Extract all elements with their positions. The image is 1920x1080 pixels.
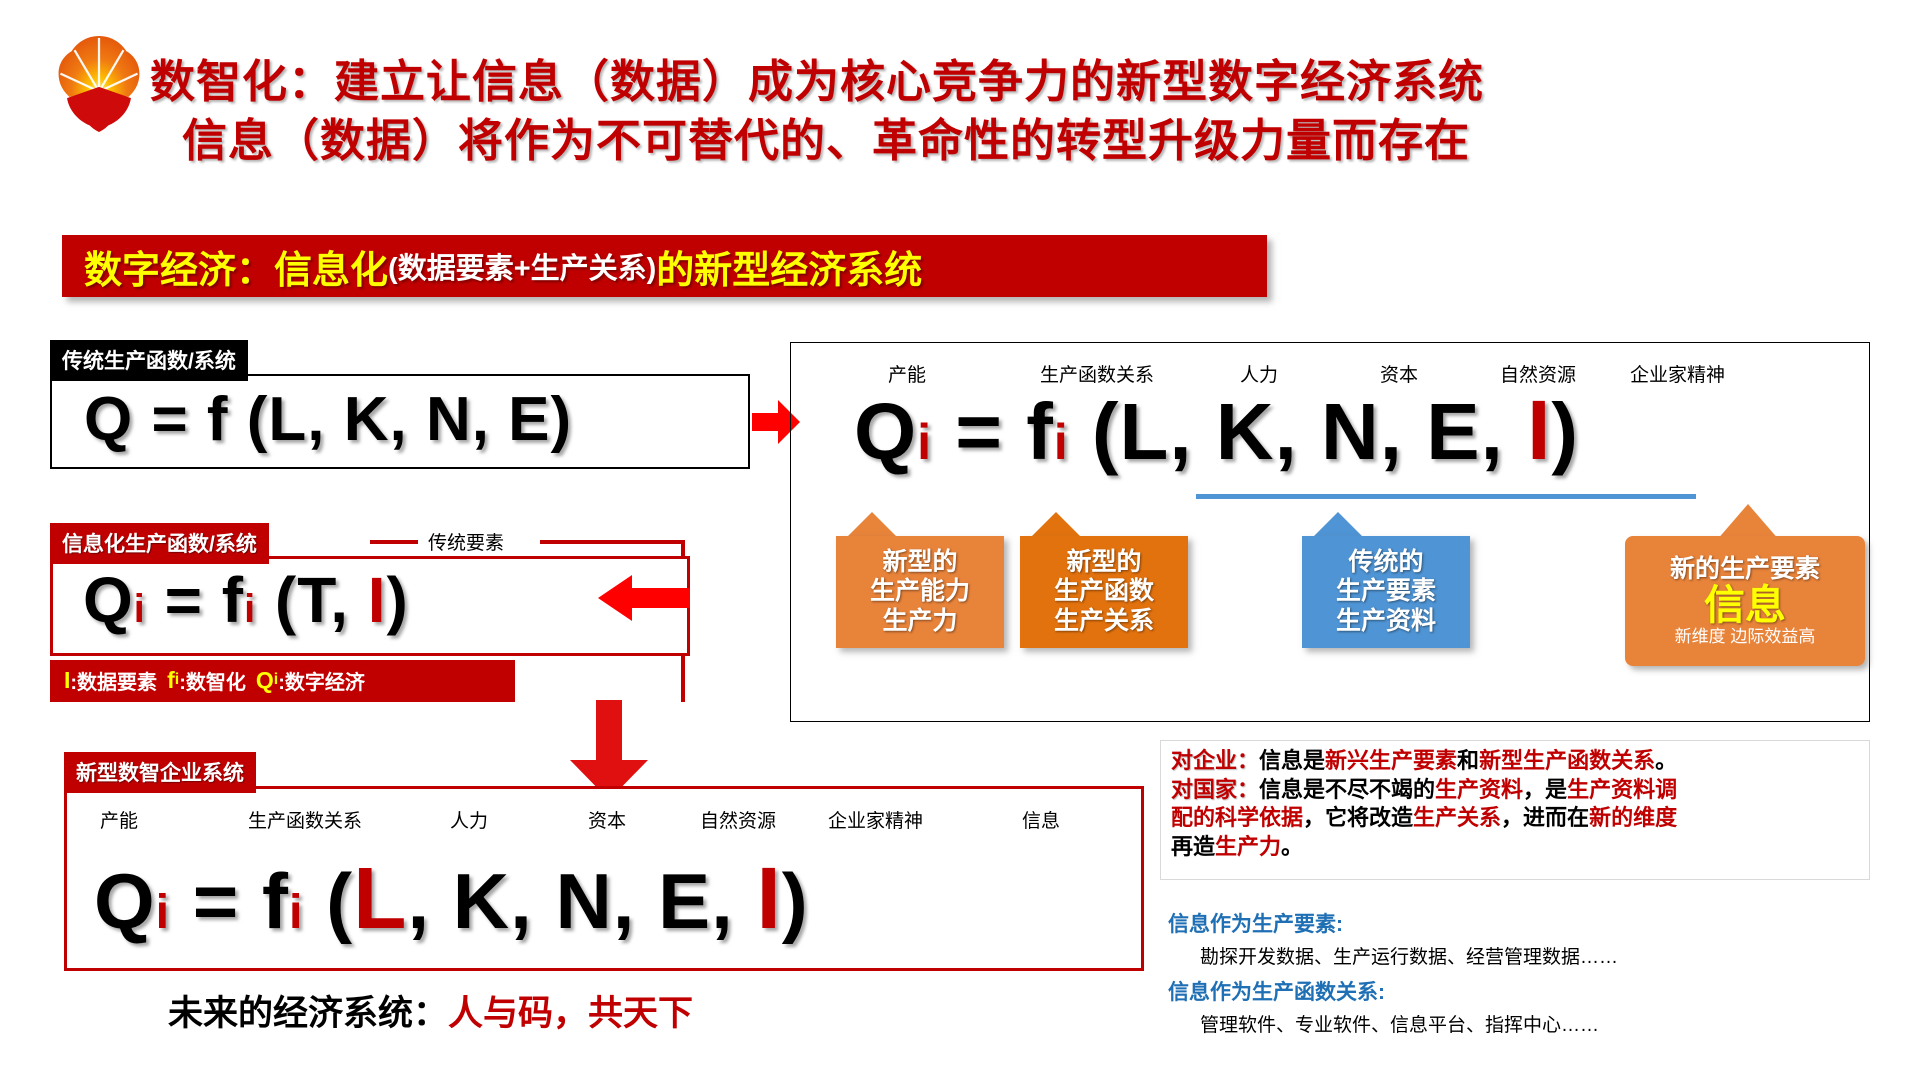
formula-close-paren: ): [387, 564, 409, 636]
paragraph-line-2: 对国家：信息是不尽不竭的生产资料，是生产资料调: [1171, 776, 1859, 805]
legend-i-text: :数据要素: [70, 666, 157, 695]
main-panel-formula: Qi = fi (L, K, N, E, I): [854, 382, 1579, 479]
para-l4-a: 再造: [1171, 834, 1215, 859]
traditional-factors-underline: [1196, 494, 1696, 499]
future-economy-footer: 未来的经济系统：人与码，共天下: [168, 985, 693, 1036]
tag-new-intelligent-enterprise-system: 新型数智企业系统: [64, 752, 256, 793]
callout-traditional-factors: 传统的 生产要素 生产资料: [1302, 536, 1470, 648]
info-section-1-heading: 信息作为生产要素:: [1168, 908, 1343, 938]
info-section-1-detail: 勘探开发数据、生产运行数据、经营管理数据……: [1200, 942, 1618, 969]
para-l3-r3: 新的维度: [1589, 805, 1677, 830]
callout-3-line-3: 生产资料: [1336, 607, 1436, 637]
para-l1-b: 和: [1457, 748, 1479, 773]
callout-4-line-1: 新的生产要素: [1670, 555, 1820, 585]
bf-information-I: I: [757, 849, 782, 947]
callout-3-line-2: 生产要素: [1336, 577, 1436, 607]
paragraph-line-1: 对企业：信息是新兴生产要素和新型生产函数关系。: [1171, 747, 1859, 776]
digital-economy-banner: 数字经济： 信息化 (数据要素+生产关系) 的新型经济系统: [62, 235, 1267, 297]
callout-4-highlight-information: 信息: [1704, 584, 1786, 627]
banner-part-2: 信息化: [274, 239, 388, 294]
formula-open-args: (T,: [256, 564, 368, 636]
traditional-formula-box: Q = f (L, K, N, E): [50, 374, 750, 469]
legend-f-text: :数智化: [179, 666, 246, 695]
para-l2-b: ，是: [1523, 777, 1567, 802]
para-l3-a: ，它将改造: [1303, 805, 1413, 830]
arrow-left-to-informatized-icon: [598, 575, 690, 621]
new-enterprise-formula: Qi = fi (L, K, N, E, I): [94, 848, 809, 949]
bottom-label-capital: 资本: [588, 806, 626, 833]
legend-f-symbol: f: [167, 667, 175, 694]
callout-new-production-function: 新型的 生产函数 生产关系: [1020, 536, 1188, 648]
mf-q-sub: i: [917, 414, 932, 470]
slide-root: 数智化：建立让信息（数据）成为核心竞争力的新型数字经济系统 信息（数据）将作为不…: [0, 0, 1920, 1080]
footer-value: 人与码，共天下: [448, 994, 693, 1033]
mf-eq: = f: [932, 387, 1054, 476]
mf-close: ): [1551, 387, 1579, 476]
legend-q-text: :数字经济: [278, 666, 365, 695]
formula-information-symbol: I: [368, 564, 387, 636]
bottom-label-information: 信息: [1022, 806, 1060, 833]
para-l2-a: 信息是不尽不竭的: [1259, 777, 1435, 802]
banner-part-3: (数据要素+生产关系): [388, 245, 656, 287]
para-l1-r1: 新兴生产要素: [1325, 748, 1457, 773]
para-l1-lead: 对企业：: [1171, 748, 1259, 773]
title-line-1: 数智化：建立让信息（数据）成为核心竞争力的新型数字经济系统: [150, 52, 1850, 111]
bf-eq: = f: [170, 857, 289, 945]
traditional-formula: Q = f (L, K, N, E): [84, 384, 572, 455]
para-l1-a: 信息是: [1259, 748, 1325, 773]
petrochina-logo-icon: [52, 32, 146, 136]
callout-1-line-3: 生产力: [882, 607, 957, 637]
bf-labor-L: L: [353, 849, 407, 947]
para-l1-r2: 新型生产函数关系: [1479, 748, 1655, 773]
bottom-label-capacity: 产能: [100, 806, 138, 833]
para-l2-r1: 生产资料: [1435, 777, 1523, 802]
callout-1-line-1: 新型的: [882, 548, 957, 578]
callout-4-footnote: 新维度 边际效益高: [1675, 627, 1816, 647]
footer-key: 未来的经济系统：: [168, 994, 448, 1033]
formula-q-subscript: i: [134, 587, 146, 631]
banner-part-4: 的新型经济系统: [656, 239, 922, 294]
bf-q-sub: i: [156, 885, 170, 939]
mf-information-I: I: [1527, 383, 1551, 477]
info-section-2-detail: 管理软件、专业软件、信息平台、指挥中心……: [1200, 1010, 1599, 1037]
callout-2-line-1: 新型的: [1066, 548, 1141, 578]
callout-new-capacity: 新型的 生产能力 生产力: [836, 536, 1004, 648]
panel-label-entrepreneurship: 企业家精神: [1630, 360, 1725, 387]
callout-2-line-3: 生产关系: [1054, 607, 1154, 637]
para-l3-b: ，进而在: [1501, 805, 1589, 830]
label-traditional-factors: 传统要素: [428, 528, 504, 555]
para-l3-r1: 配的科学依据: [1171, 805, 1303, 830]
info-section-2-heading: 信息作为生产函数关系:: [1168, 976, 1385, 1006]
informatized-formula: Qi = fi (T, I): [83, 563, 409, 637]
banner-part-1: 数字经济：: [84, 239, 274, 294]
legend-q-symbol: Q: [256, 667, 274, 694]
callout-3-line-1: 传统的: [1348, 548, 1423, 578]
tag-informatized-production-function: 信息化生产函数/系统: [50, 523, 269, 564]
bf-mid: , K, N, E,: [407, 857, 756, 945]
bottom-label-natural-resources: 自然资源: [700, 806, 776, 833]
callout-2-line-2: 生产函数: [1054, 577, 1154, 607]
arrow-down-to-new-system-icon: [570, 700, 648, 800]
para-l4-r1: 生产力: [1215, 834, 1281, 859]
bottom-label-entrepreneurship: 企业家精神: [828, 806, 923, 833]
paragraph-line-4: 再造生产力。: [1171, 833, 1859, 862]
connector-line-right: [540, 540, 685, 544]
bf-q: Q: [94, 857, 156, 945]
callout-1-line-2: 生产能力: [870, 577, 970, 607]
para-l1-c: 。: [1655, 748, 1677, 773]
callout-new-factor-information: 新的生产要素 信息 新维度 边际效益高: [1625, 536, 1865, 666]
formula-f-subscript: i: [244, 587, 256, 631]
para-l2-lead: 对国家：: [1171, 777, 1259, 802]
bf-f-sub: i: [289, 885, 303, 939]
bf-open: (: [303, 857, 353, 945]
title-line-2: 信息（数据）将作为不可替代的、革命性的转型升级力量而存在: [150, 111, 1850, 170]
para-l2-r2: 生产资料调: [1567, 777, 1677, 802]
tag-traditional-production-function: 传统生产函数/系统: [50, 340, 248, 381]
information-role-paragraph-box: 对企业：信息是新兴生产要素和新型生产函数关系。 对国家：信息是不尽不竭的生产资料…: [1160, 740, 1870, 880]
para-l3-r2: 生产关系: [1413, 805, 1501, 830]
bottom-label-labor: 人力: [450, 806, 488, 833]
mf-f-sub: i: [1054, 414, 1069, 470]
informatized-formula-box: Qi = fi (T, I): [50, 556, 690, 656]
mf-mid: (L, K, N, E,: [1069, 387, 1527, 476]
bf-close: ): [782, 857, 809, 945]
connector-line-left: [370, 540, 418, 544]
bottom-label-production-function: 生产函数关系: [248, 806, 362, 833]
symbol-legend-bar: I:数据要素 fi:数智化 Qi:数字经济: [50, 660, 515, 702]
para-l4-b: 。: [1281, 834, 1303, 859]
formula-equals-f: = f: [146, 564, 244, 636]
formula-q: Q: [83, 564, 134, 636]
mf-q: Q: [854, 387, 917, 476]
slide-title: 数智化：建立让信息（数据）成为核心竞争力的新型数字经济系统 信息（数据）将作为不…: [150, 52, 1850, 171]
paragraph-line-3: 配的科学依据，它将改造生产关系，进而在新的维度: [1171, 804, 1859, 833]
